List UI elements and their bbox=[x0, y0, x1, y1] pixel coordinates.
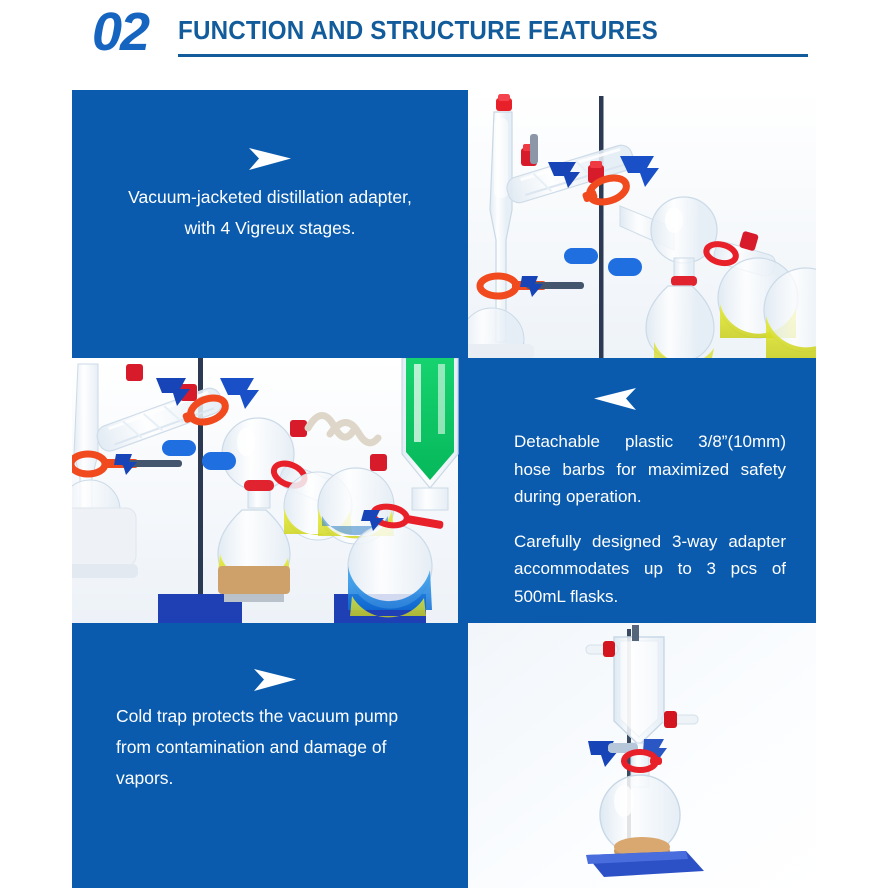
arrow-right-icon-wrap bbox=[72, 146, 468, 172]
photo-three-way-adapter-art bbox=[72, 358, 468, 623]
page-title: FUNCTION AND STRUCTURE FEATURES bbox=[178, 15, 658, 46]
panel-2-text: Detachable plastic 3/8”(10mm) hose barbs… bbox=[514, 428, 786, 610]
arrow-right-icon bbox=[252, 667, 298, 693]
section-number: 02 bbox=[92, 5, 148, 59]
arrow-right-icon bbox=[247, 146, 293, 172]
photo-distillation-adapter bbox=[468, 90, 816, 358]
panel-3-line-1: Cold trap protects the vacuum pump bbox=[116, 701, 426, 732]
arrow-left-icon-wrap bbox=[592, 386, 786, 412]
panel-3-line-3: vapors. bbox=[116, 763, 426, 794]
photo-cold-trap bbox=[468, 623, 816, 888]
panel-1-line-2: with 4 Vigreux stages. bbox=[102, 213, 438, 244]
title-divider bbox=[178, 54, 808, 57]
panel-2-paragraph-1: Detachable plastic 3/8”(10mm) hose barbs… bbox=[514, 428, 786, 511]
panel-1-text: Vacuum-jacketed distillation adapter, wi… bbox=[72, 182, 468, 244]
panel-3-line-2: from contamination and damage of bbox=[116, 732, 426, 763]
photo-cold-trap-art bbox=[468, 623, 816, 888]
arrow-right-icon-wrap-2 bbox=[82, 667, 468, 693]
feature-panel-1: Vacuum-jacketed distillation adapter, wi… bbox=[72, 90, 468, 358]
panel-2-paragraph-2: Carefully designed 3-way adapter accommo… bbox=[514, 528, 786, 611]
panel-3-text: Cold trap protects the vacuum pump from … bbox=[72, 701, 468, 794]
arrow-left-icon bbox=[592, 386, 638, 412]
feature-grid: Vacuum-jacketed distillation adapter, wi… bbox=[72, 90, 816, 888]
feature-panel-3: Cold trap protects the vacuum pump from … bbox=[72, 623, 468, 888]
photo-three-way-adapter bbox=[72, 358, 468, 623]
photo-distillation-adapter-art bbox=[468, 90, 816, 358]
panel-1-line-1: Vacuum-jacketed distillation adapter, bbox=[102, 182, 438, 213]
page-header: 02 FUNCTION AND STRUCTURE FEATURES bbox=[0, 0, 888, 90]
feature-panel-2: Detachable plastic 3/8”(10mm) hose barbs… bbox=[468, 358, 816, 623]
